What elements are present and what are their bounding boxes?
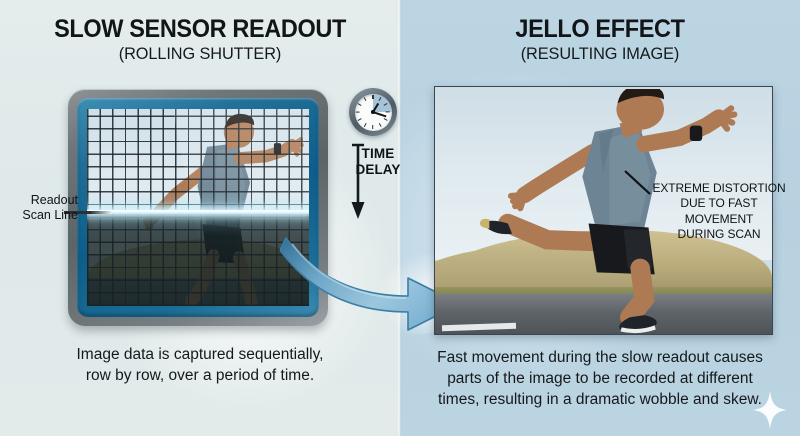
readout-scan-line: [87, 210, 309, 214]
sensor-screen: [87, 109, 309, 306]
time-delay-line-1: TIME: [350, 146, 406, 162]
left-caption-line-2: row by row, over a period of time.: [30, 366, 370, 387]
readout-label-line-2: Scan Line: [4, 208, 78, 223]
right-panel-title: JELLO EFFECT: [412, 16, 788, 42]
right-caption-line-2: parts of the image to be recorded at dif…: [410, 368, 790, 389]
readout-label-line-1: Readout: [4, 193, 78, 208]
infographic-root: SLOW SENSOR READOUT (ROLLING SHUTTER) JE…: [0, 0, 800, 436]
panel-divider: [398, 0, 402, 436]
left-heading-block: SLOW SENSOR READOUT (ROLLING SHUTTER): [0, 16, 400, 64]
left-caption-line-1: Image data is captured sequentially,: [30, 345, 370, 366]
left-caption: Image data is captured sequentially, row…: [30, 345, 370, 387]
clock-icon: [349, 88, 397, 136]
right-heading-block: JELLO EFFECT (RESULTING IMAGE): [400, 16, 800, 64]
right-caption: Fast movement during the slow readout ca…: [410, 347, 790, 410]
clock-center-pin: [371, 110, 374, 113]
readout-scan-line-label: Readout Scan Line: [4, 193, 78, 224]
right-caption-line-1: Fast movement during the slow readout ca…: [410, 347, 790, 368]
left-panel-title: SLOW SENSOR READOUT: [12, 16, 388, 42]
sparkle-icon: [753, 391, 787, 429]
right-caption-line-3: times, resulting in a dramatic wobble an…: [410, 389, 790, 410]
sensor-pixel-grid: [87, 109, 309, 306]
time-delay-line-2: DELAY: [350, 162, 406, 178]
distortion-line-2: DUE TO FAST MOVEMENT: [645, 196, 793, 227]
clock-face: [355, 94, 392, 131]
distortion-annotation: EXTREME DISTORTION DUE TO FAST MOVEMENT …: [645, 181, 793, 242]
left-panel-subtitle: (ROLLING SHUTTER): [8, 45, 392, 64]
distortion-line-1: EXTREME DISTORTION: [645, 181, 793, 196]
time-delay-label: TIME DELAY: [350, 146, 406, 177]
right-panel-subtitle: (RESULTING IMAGE): [408, 45, 792, 64]
distortion-line-3: DURING SCAN: [645, 227, 793, 242]
